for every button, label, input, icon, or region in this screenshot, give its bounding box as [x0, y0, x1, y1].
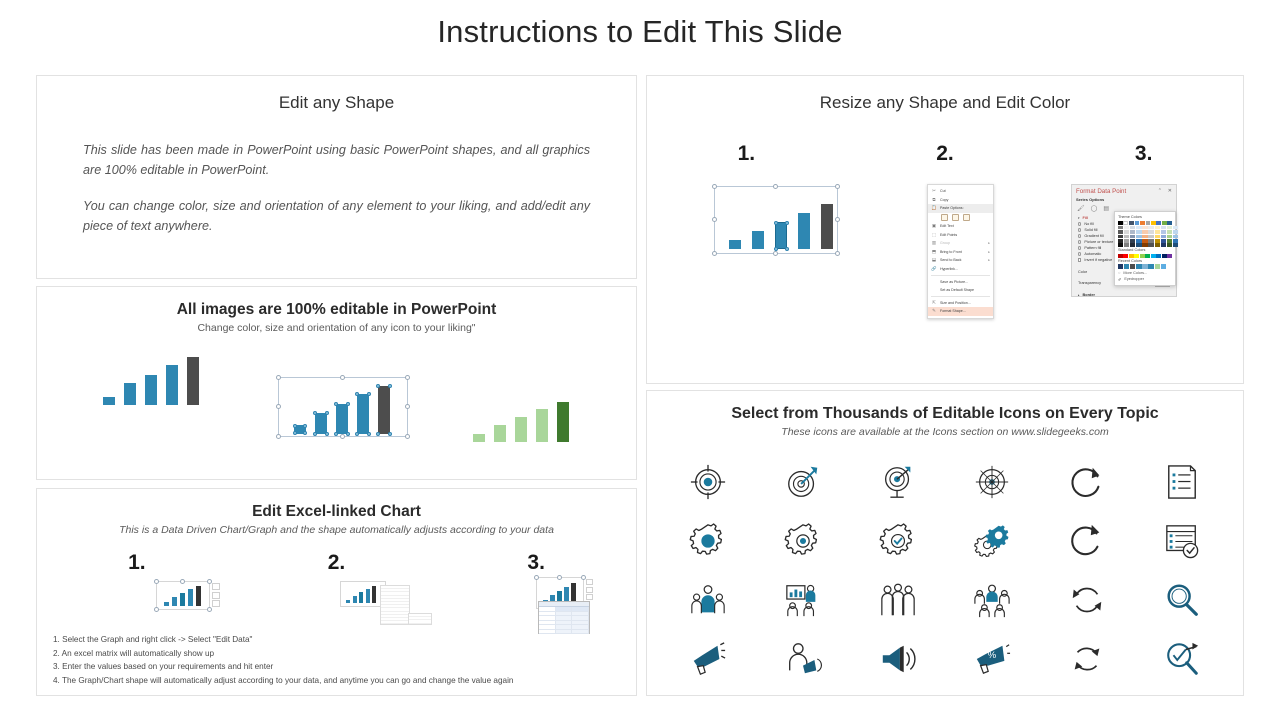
- panel-title-resize: Resize any Shape and Edit Color: [647, 93, 1243, 113]
- edit-text-icon: ▣: [931, 223, 937, 229]
- resize-handle-bottom-right[interactable]: [207, 607, 212, 612]
- swatch[interactable]: [1148, 264, 1153, 268]
- excel-instructions-list: 1. Select the Graph and right click -> S…: [53, 633, 513, 687]
- swatch[interactable]: [1135, 221, 1140, 225]
- swatch[interactable]: [1156, 221, 1161, 225]
- scissors-icon: ✂: [931, 188, 937, 194]
- panel-title-icons: Select from Thousands of Editable Icons …: [647, 405, 1243, 423]
- recent-colors-label: Recent Colors: [1118, 259, 1172, 263]
- panel-title-images: All images are 100% editable in PowerPoi…: [37, 301, 636, 319]
- edit-shape-paragraph-1: This slide has been made in PowerPoint u…: [83, 140, 590, 180]
- link-icon: 🔗: [931, 266, 937, 272]
- megaphone-icon[interactable]: [661, 636, 756, 681]
- resize-handle-top-center[interactable]: [557, 575, 562, 580]
- eyedropper-label: Eyedropper: [1124, 277, 1144, 281]
- swatch[interactable]: [1151, 221, 1156, 225]
- paste-keep-formatting-icon[interactable]: [941, 214, 948, 221]
- size-properties-icon[interactable]: ▤: [1103, 205, 1109, 212]
- resize-handle-bottom-left[interactable]: [154, 607, 159, 612]
- context-menu-label: Save as Picture...: [940, 280, 968, 284]
- resize-step-1: 1.: [647, 142, 846, 166]
- bar-4: [188, 589, 193, 606]
- bar-3: [359, 592, 363, 603]
- bar-1: [103, 397, 115, 405]
- megaphone-percent-icon[interactable]: %: [945, 636, 1040, 681]
- resize-step-3: 3.: [1044, 142, 1243, 166]
- page-title: Instructions to Edit This Slide: [0, 14, 1280, 50]
- swatch[interactable]: [1167, 254, 1172, 258]
- panel-editable-icons: Select from Thousands of Editable Icons …: [646, 390, 1244, 696]
- transparency-label: Transparency: [1078, 281, 1101, 285]
- option-label: No fill: [1084, 222, 1094, 226]
- paste-icon: 📋: [931, 205, 937, 211]
- svg-text:%: %: [988, 650, 997, 661]
- instruction-line: 2. An excel matrix will automatically sh…: [53, 647, 513, 661]
- resize-handle-middle-right[interactable]: [835, 217, 840, 222]
- checkbox-icon[interactable]: [1078, 258, 1081, 261]
- swatch[interactable]: [1130, 264, 1135, 268]
- option-label: Gradient fill: [1084, 234, 1103, 238]
- resize-handle-bottom-left[interactable]: [276, 434, 281, 439]
- swatch[interactable]: [1136, 264, 1141, 268]
- swatch[interactable]: [1162, 254, 1167, 258]
- fill-bucket-icon[interactable]: 🖌: [1077, 205, 1085, 212]
- swatch[interactable]: [1142, 264, 1147, 268]
- color-picker-popup[interactable]: Theme Colors: [1114, 211, 1176, 286]
- gear-ring-icon[interactable]: [756, 518, 851, 563]
- bar-1: [473, 434, 485, 442]
- panel-resize-shape: Resize any Shape and Edit Color 1. 2. 3.: [646, 75, 1244, 384]
- paste-options-row[interactable]: [928, 213, 993, 222]
- chevron-right-icon: ▸: [988, 250, 990, 254]
- bar-5: [821, 204, 833, 249]
- menu-divider: [931, 296, 990, 297]
- palette-icon: ◌: [1118, 270, 1120, 275]
- panel-images-editable: All images are 100% editable in PowerPoi…: [36, 286, 637, 480]
- menu-divider: [931, 275, 990, 276]
- chevron-right-icon: ▸: [1078, 293, 1080, 297]
- chevron-right-icon: ▸: [988, 241, 990, 245]
- speaker-icon[interactable]: [850, 636, 945, 681]
- context-menu-item-group: ▥ Group ▸: [928, 239, 993, 248]
- bar-3: [775, 222, 787, 249]
- option-label: Automatic: [1084, 252, 1101, 256]
- resize-handle-top-left[interactable]: [276, 375, 281, 380]
- panel-edit-any-shape: Edit any Shape This slide has been made …: [36, 75, 637, 279]
- document-check-icon[interactable]: [1134, 518, 1229, 563]
- bar-1: [164, 602, 169, 606]
- pin-icon[interactable]: ⌃: [1158, 188, 1162, 194]
- target-crosshair-icon[interactable]: [661, 459, 756, 504]
- context-menu-label: Group: [940, 241, 950, 245]
- step-number: 3.: [1044, 142, 1243, 166]
- refresh-loop-icon[interactable]: [1040, 636, 1135, 681]
- refresh-circle-icon[interactable]: [1040, 518, 1135, 563]
- format-icon: ✎: [931, 308, 937, 314]
- swatch[interactable]: [1134, 254, 1139, 258]
- resize-handle-top-right[interactable]: [835, 184, 840, 189]
- bar-4: [366, 589, 370, 603]
- panel-subtitle-images: Change color, size and orientation of an…: [37, 322, 636, 334]
- step-number: 2.: [237, 551, 437, 575]
- step-number: 2.: [846, 142, 1045, 166]
- radio-icon[interactable]: [1078, 228, 1081, 231]
- context-menu-item-bring-to-front[interactable]: ⬒ Bring to Front ▸: [928, 248, 993, 257]
- resize-handle-bottom-right[interactable]: [405, 434, 410, 439]
- context-menu-item-edit-text[interactable]: ▣ Edit Text: [928, 222, 993, 231]
- copy-icon: ⧉: [931, 197, 937, 202]
- target-stand-icon[interactable]: [850, 459, 945, 504]
- instruction-line: 4. The Graph/Chart shape will automatica…: [53, 674, 513, 688]
- bar-2: [494, 425, 506, 442]
- bar-4: [536, 409, 548, 442]
- bar-5: [557, 402, 569, 442]
- send-back-icon: ⬓: [931, 257, 937, 263]
- gear-check-icon[interactable]: [850, 518, 945, 563]
- standard-colors-label: Standard Colors: [1118, 248, 1172, 252]
- group-icon: ▥: [931, 240, 937, 246]
- option-label: Pattern fill: [1084, 246, 1101, 250]
- dartboard-arrow-icon[interactable]: [756, 459, 851, 504]
- resize-handle-top-center[interactable]: [180, 579, 185, 584]
- slide-canvas: Instructions to Edit This Slide Edit any…: [0, 0, 1280, 720]
- chevron-down-icon: ▾: [1078, 216, 1080, 220]
- excel-thumb-data-sheet[interactable]: [536, 577, 584, 609]
- chevron-right-icon: ▸: [988, 258, 990, 262]
- bar-4: [798, 213, 810, 249]
- excel-thumb-selected-chart[interactable]: [156, 581, 210, 610]
- resize-handle-middle-right[interactable]: [405, 404, 410, 409]
- resize-handle-top-left[interactable]: [534, 575, 539, 580]
- more-colors-label: More Colors...: [1123, 271, 1147, 275]
- swatch[interactable]: [1167, 221, 1172, 225]
- resize-handle-top-left[interactable]: [154, 579, 159, 584]
- chart-blue-plain[interactable]: [103, 357, 199, 405]
- resize-handle-bottom-right[interactable]: [835, 251, 840, 256]
- close-icon[interactable]: ✕: [1168, 188, 1172, 194]
- context-menu-label: Send to Back: [940, 258, 961, 262]
- shape-context-menu[interactable]: ✂ Cut ⧉ Copy 📋 Paste Options: ▣ Edit Tex…: [927, 184, 994, 319]
- team-meeting-icon[interactable]: [945, 577, 1040, 622]
- bar-3: [145, 375, 157, 405]
- swatch[interactable]: [1140, 254, 1145, 258]
- resize-handle-top-right[interactable]: [405, 375, 410, 380]
- step-number: 1.: [647, 142, 846, 166]
- swatch[interactable]: [1140, 221, 1145, 225]
- resize-step-2: 2.: [846, 142, 1045, 166]
- color-label: Color: [1078, 270, 1087, 274]
- context-menu-item-cut[interactable]: ✂ Cut: [928, 187, 993, 196]
- swatch[interactable]: [1155, 264, 1160, 268]
- chart-resize-demo[interactable]: [714, 186, 838, 254]
- swatch[interactable]: [1124, 264, 1129, 268]
- bar-3: [515, 417, 527, 442]
- bar-3: [336, 404, 348, 434]
- resize-handle-top-left[interactable]: [712, 184, 717, 189]
- swatch[interactable]: [1118, 221, 1123, 225]
- panel-excel-linked-chart: Edit Excel-linked Chart This is a Data D…: [36, 488, 637, 696]
- excel-step-3: 3.: [436, 551, 636, 575]
- magnifier-icon[interactable]: [1134, 577, 1229, 622]
- radio-icon[interactable]: [1078, 252, 1081, 255]
- format-pane-section[interactable]: Series Options: [1072, 195, 1176, 204]
- eyedropper-icon: ✐: [1118, 277, 1121, 282]
- step-number: 1.: [37, 551, 237, 575]
- context-menu-item-paste-options[interactable]: 📋 Paste Options:: [928, 204, 993, 213]
- chart-green-plain[interactable]: [473, 402, 569, 442]
- bring-front-icon: ⬒: [931, 249, 937, 255]
- context-menu-item-save-as-picture[interactable]: Save as Picture...: [928, 277, 993, 286]
- edit-shape-paragraph-2: You can change color, size and orientati…: [83, 196, 590, 236]
- people-group-icon[interactable]: [850, 577, 945, 622]
- sheet-cells[interactable]: [539, 607, 589, 634]
- size-icon: ⇱: [931, 300, 937, 306]
- context-menu-label: Set as Default Shape: [940, 288, 974, 292]
- recent-colors-row[interactable]: [1118, 264, 1172, 268]
- context-menu-item-hyperlink[interactable]: 🔗 Hyperlink...: [928, 265, 993, 274]
- resize-handle-top-center[interactable]: [773, 184, 778, 189]
- panel-subtitle-excel: This is a Data Driven Chart/Graph and th…: [37, 524, 636, 536]
- format-data-point-pane[interactable]: Format Data Point ⌃ ✕ Series Options 🖌 ◯…: [1071, 184, 1177, 297]
- swatch[interactable]: [1123, 221, 1128, 225]
- swatch[interactable]: [1129, 254, 1134, 258]
- resize-handle-bottom-center[interactable]: [773, 251, 778, 256]
- context-menu-item-format-shape[interactable]: ✎ Format Shape...: [928, 307, 993, 316]
- panel-title-edit-shape: Edit any Shape: [37, 93, 636, 113]
- sync-arrows-icon[interactable]: [1040, 577, 1135, 622]
- context-menu-label: Size and Position...: [940, 301, 971, 305]
- refresh-clockwise-icon[interactable]: [1040, 459, 1135, 504]
- gears-double-icon[interactable]: [945, 518, 1040, 563]
- standard-colors-row[interactable]: [1118, 254, 1172, 258]
- fill-label: Fill: [1083, 216, 1088, 220]
- swatch[interactable]: [1146, 221, 1151, 225]
- chart-side-toolbar[interactable]: [212, 583, 221, 607]
- bar-4: [166, 365, 178, 405]
- context-menu-item-send-to-back[interactable]: ⬓ Send to Back ▸: [928, 256, 993, 265]
- radio-icon[interactable]: [1078, 222, 1081, 225]
- resize-handle-top-center[interactable]: [340, 375, 345, 380]
- context-menu-label: Edit Points: [940, 233, 957, 237]
- context-menu-label: Format Shape...: [940, 309, 966, 313]
- effects-icon[interactable]: ◯: [1091, 205, 1098, 212]
- theme-colors-label: Theme Colors: [1118, 215, 1172, 219]
- target-scope-icon[interactable]: [945, 459, 1040, 504]
- resize-handle-middle-left[interactable]: [276, 404, 281, 409]
- mini-context-menu[interactable]: [380, 585, 410, 625]
- bar-2: [315, 413, 327, 434]
- gear-solid-icon[interactable]: [661, 518, 756, 563]
- resize-handle-bottom-center[interactable]: [340, 434, 345, 439]
- instruction-line: 1. Select the Graph and right click -> S…: [53, 633, 513, 647]
- bar-2: [353, 596, 357, 603]
- chart-blue-selected[interactable]: [278, 377, 408, 437]
- excel-data-sheet[interactable]: [538, 601, 590, 634]
- theme-colors-row[interactable]: [1118, 221, 1172, 225]
- excel-thumb-context-menu[interactable]: [340, 581, 386, 607]
- option-label: Picture or texture fill: [1084, 240, 1118, 244]
- step-number: 3.: [436, 551, 636, 575]
- bar-2: [172, 597, 177, 606]
- swatch[interactable]: [1156, 254, 1161, 258]
- option-label: Solid fill: [1084, 228, 1097, 232]
- bar-5: [378, 386, 390, 434]
- swatch[interactable]: [1129, 221, 1134, 225]
- context-menu-label: Bring to Front: [940, 250, 962, 254]
- bar-2: [124, 383, 136, 405]
- paste-picture-icon[interactable]: [952, 214, 959, 221]
- border-label: Border: [1083, 293, 1095, 297]
- swatch[interactable]: [1118, 264, 1123, 268]
- icon-grid: %: [661, 459, 1229, 681]
- border-group-header[interactable]: ▸ Border: [1072, 288, 1176, 298]
- bar-1: [729, 240, 741, 249]
- bar-4: [357, 394, 369, 434]
- eyedropper-item[interactable]: ✐ Eyedropper: [1118, 275, 1172, 282]
- radio-icon[interactable]: [1078, 234, 1081, 237]
- person-megaphone-icon[interactable]: [756, 636, 851, 681]
- team-leader-icon[interactable]: [661, 577, 756, 622]
- mini-submenu[interactable]: [408, 613, 432, 625]
- bar-1: [346, 600, 350, 603]
- excel-step-2: 2.: [237, 551, 437, 575]
- paste-text-only-icon[interactable]: [963, 214, 970, 221]
- context-menu-label: Edit Text: [940, 224, 954, 228]
- swatch[interactable]: [1161, 264, 1166, 268]
- context-menu-item-copy[interactable]: ⧉ Copy: [928, 196, 993, 205]
- panel-title-excel: Edit Excel-linked Chart: [37, 503, 636, 521]
- chart-side-toolbar[interactable]: [586, 579, 594, 600]
- swatch[interactable]: [1151, 254, 1156, 258]
- context-menu-item-edit-points[interactable]: ⬚ Edit Points: [928, 230, 993, 239]
- swatch[interactable]: [1118, 254, 1123, 258]
- resize-handle-bottom-left[interactable]: [712, 251, 717, 256]
- bar-2: [752, 231, 764, 249]
- magnifier-target-icon[interactable]: [1134, 636, 1229, 681]
- bar-5: [372, 586, 376, 603]
- context-menu-item-set-default-shape[interactable]: Set as Default Shape: [928, 286, 993, 295]
- swatch[interactable]: [1145, 254, 1150, 258]
- panel-subtitle-icons: These icons are available at the Icons s…: [647, 426, 1243, 438]
- bar-1: [294, 425, 306, 434]
- context-menu-label: Hyperlink...: [940, 267, 958, 271]
- radio-icon[interactable]: [1078, 246, 1081, 249]
- swatch[interactable]: [1123, 254, 1128, 258]
- option-label: Invert if negative: [1084, 258, 1112, 262]
- edit-points-icon: ⬚: [931, 232, 937, 238]
- context-menu-label: Paste Options:: [940, 206, 964, 210]
- context-menu-label: Copy: [940, 198, 948, 202]
- bar-3: [180, 593, 185, 606]
- bar-5: [196, 586, 201, 606]
- document-list-icon[interactable]: [1134, 459, 1229, 504]
- theme-shade-grid[interactable]: [1118, 226, 1172, 247]
- bar-5: [187, 357, 199, 405]
- excel-step-1: 1.: [37, 551, 237, 575]
- context-menu-item-size-and-position[interactable]: ⇱ Size and Position...: [928, 299, 993, 308]
- instruction-line: 3. Enter the values based on your requir…: [53, 660, 513, 674]
- resize-handle-middle-left[interactable]: [712, 217, 717, 222]
- swatch[interactable]: [1162, 221, 1167, 225]
- context-menu-label: Cut: [940, 189, 946, 193]
- radio-icon[interactable]: [1078, 240, 1081, 243]
- presentation-people-icon[interactable]: [756, 577, 851, 622]
